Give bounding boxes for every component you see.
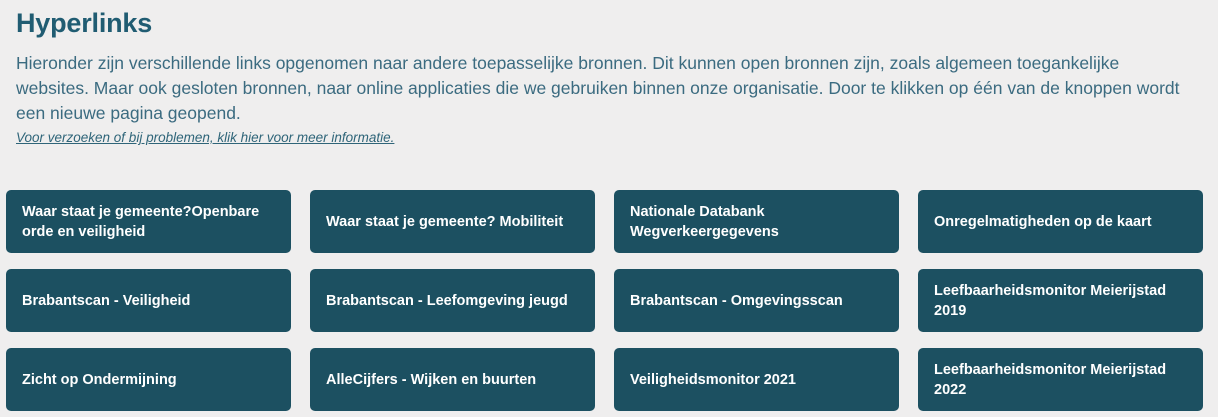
link-button-allecijfers-wijken-en-buurten[interactable]: AlleCijfers - Wijken en buurten xyxy=(310,348,595,411)
link-button-label: AlleCijfers - Wijken en buurten xyxy=(326,370,536,390)
link-button-brabantscan-omgevingsscan[interactable]: Brabantscan - Omgevingsscan xyxy=(614,269,899,332)
link-button-veiligheidsmonitor-2021[interactable]: Veiligheidsmonitor 2021 xyxy=(614,348,899,411)
link-button-leefbaarheidsmonitor-meierijstad-2019[interactable]: Leefbaarheidsmonitor Meierijstad 2019 xyxy=(918,269,1203,332)
link-button-label: Zicht op Ondermijning xyxy=(22,370,177,390)
link-button-label: Brabantscan - Omgevingsscan xyxy=(630,291,843,311)
hyperlinks-page: Hyperlinks Hieronder zijn verschillende … xyxy=(0,0,1218,417)
link-button-brabantscan-veiligheid[interactable]: Brabantscan - Veiligheid xyxy=(6,269,291,332)
link-button-brabantscan-leefomgeving-jeugd[interactable]: Brabantscan - Leefomgeving jeugd xyxy=(310,269,595,332)
link-button-waar-staat-je-gemeente-mobiliteit[interactable]: Waar staat je gemeente? Mobiliteit xyxy=(310,190,595,253)
link-button-waar-staat-je-gemeente-openbare-orde-en-veiligheid[interactable]: Waar staat je gemeente?Openbare orde en … xyxy=(6,190,291,253)
header-section: Hyperlinks Hieronder zijn verschillende … xyxy=(0,0,1218,147)
button-row: Waar staat je gemeente?Openbare orde en … xyxy=(0,190,1218,253)
intro-paragraph: Hieronder zijn verschillende links opgen… xyxy=(8,40,1199,126)
link-button-label: Waar staat je gemeente? Mobiliteit xyxy=(326,212,563,232)
link-button-label: Leefbaarheidsmonitor Meierijstad 2022 xyxy=(934,360,1189,400)
link-button-label: Waar staat je gemeente?Openbare orde en … xyxy=(22,202,277,242)
link-button-label: Onregelmatigheden op de kaart xyxy=(934,212,1152,232)
link-button-label: Veiligheidsmonitor 2021 xyxy=(630,370,796,390)
link-button-zicht-op-ondermijning[interactable]: Zicht op Ondermijning xyxy=(6,348,291,411)
page-title: Hyperlinks xyxy=(8,0,1210,40)
link-button-grid: Waar staat je gemeente?Openbare orde en … xyxy=(0,190,1218,411)
button-row: Zicht op Ondermijning AlleCijfers - Wijk… xyxy=(0,348,1218,411)
link-button-label: Leefbaarheidsmonitor Meierijstad 2019 xyxy=(934,281,1189,321)
link-button-leefbaarheidsmonitor-meierijstad-2022[interactable]: Leefbaarheidsmonitor Meierijstad 2022 xyxy=(918,348,1203,411)
more-info-link[interactable]: Voor verzoeken of bij problemen, klik hi… xyxy=(16,128,394,147)
link-button-label: Brabantscan - Leefomgeving jeugd xyxy=(326,291,568,311)
link-button-nationale-databank-wegverkeergegevens[interactable]: Nationale Databank Wegverkeergegevens xyxy=(614,190,899,253)
link-button-label: Brabantscan - Veiligheid xyxy=(22,291,190,311)
button-row: Brabantscan - Veiligheid Brabantscan - L… xyxy=(0,269,1218,332)
link-button-label: Nationale Databank Wegverkeergegevens xyxy=(630,202,885,242)
link-button-onregelmatigheden-op-de-kaart[interactable]: Onregelmatigheden op de kaart xyxy=(918,190,1203,253)
